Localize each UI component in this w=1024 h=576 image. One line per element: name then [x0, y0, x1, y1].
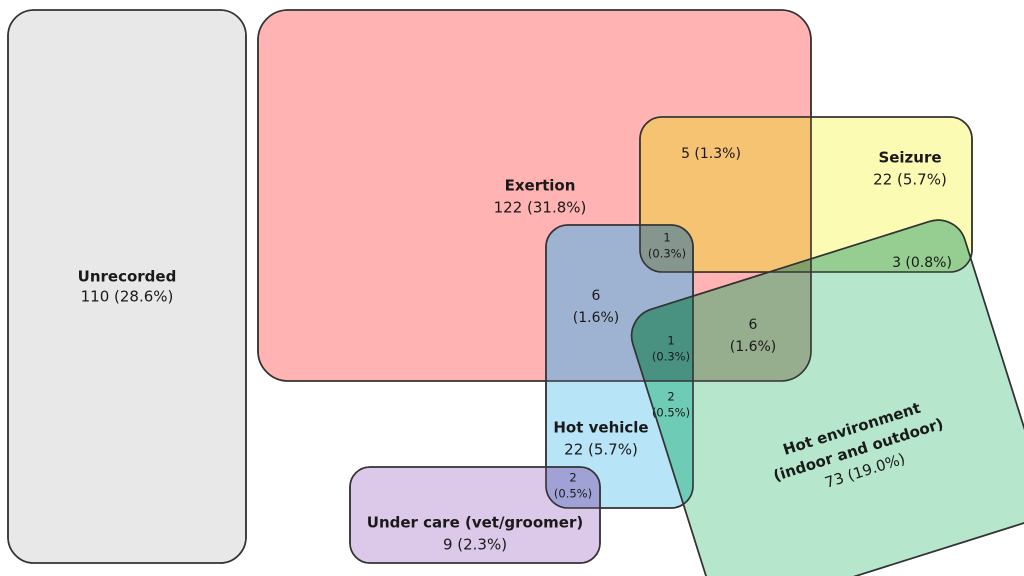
set-seizure-label: Seizure [878, 149, 941, 167]
intersection-exertion-seizure-hot-vehicle-line2: (0.3%) [648, 247, 686, 261]
intersection-hot-vehicle-under-care-line1: 2 [569, 471, 576, 485]
set-unrecorded-label: Unrecorded [78, 268, 177, 286]
set-exertion-label: Exertion [505, 177, 576, 195]
set-hot-vehicle-count: 22 (5.7%) [564, 441, 638, 459]
intersection-hot-vehicle-hot-environment-line1: 2 [667, 390, 674, 404]
intersection-exertion-hot-vehicle-hot-environment-line2: (0.3%) [652, 350, 690, 364]
set-under-care-label: Under care (vet/groomer) [367, 514, 583, 532]
intersection-exertion-hot-environment-line2: (1.6%) [730, 339, 777, 355]
euler-diagram-canvas: Unrecorded 110 (28.6%) 5 (1.3%) 6 [0, 0, 1024, 576]
euler-diagram-svg: Unrecorded 110 (28.6%) 5 (1.3%) 6 [0, 0, 1024, 576]
intersection-exertion-seizure-label: 5 (1.3%) [681, 146, 741, 162]
set-unrecorded[interactable]: Unrecorded 110 (28.6%) [8, 10, 246, 563]
set-under-care-count: 9 (2.3%) [443, 536, 507, 554]
intersection-exertion-hot-vehicle-line1: 6 [592, 288, 601, 304]
intersection-exertion-seizure-hot-vehicle-line1: 1 [663, 231, 670, 245]
set-unrecorded-count: 110 (28.6%) [81, 288, 174, 306]
set-unrecorded-shape [8, 10, 246, 563]
set-hot-vehicle-label: Hot vehicle [553, 419, 648, 437]
intersection-exertion-hot-environment-line1: 6 [749, 317, 758, 333]
set-seizure-count: 22 (5.7%) [873, 171, 947, 189]
set-exertion-count: 122 (31.8%) [494, 199, 587, 217]
intersection-seizure-hot-environment-label: 3 (0.8%) [892, 255, 952, 271]
intersection-hot-vehicle-under-care-line2: (0.5%) [554, 487, 592, 501]
intersection-hot-vehicle-hot-environment-line2: (0.5%) [652, 406, 690, 420]
intersection-exertion-hot-vehicle-line2: (1.6%) [573, 310, 620, 326]
intersection-exertion-hot-vehicle-hot-environment-line1: 1 [667, 334, 674, 348]
